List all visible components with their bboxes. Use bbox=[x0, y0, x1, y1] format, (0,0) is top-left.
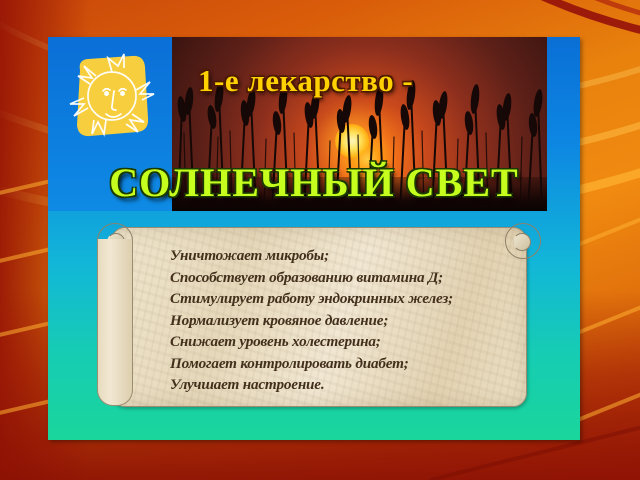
parchment-scroll: Уничтожает микробы; Способствует образов… bbox=[95, 221, 541, 411]
scroll-roll-right bbox=[505, 223, 541, 259]
parchment-surface: Уничтожает микробы; Способствует образов… bbox=[111, 227, 527, 407]
list-item: Стимулирует работу эндокринных желез; bbox=[170, 288, 540, 310]
scroll-curl-right bbox=[513, 233, 531, 251]
benefits-list: Уничтожает микробы; Способствует образов… bbox=[170, 245, 540, 396]
scroll-edge-left bbox=[97, 239, 133, 406]
list-item: Нормализует кровяное давление; bbox=[170, 310, 540, 332]
list-item: Способствует образованию витамина Д; bbox=[170, 267, 540, 289]
list-item: Улучшает настроение. bbox=[170, 374, 540, 396]
slide-panel: 1-е лекарство - СОЛНЕЧНЫЙ СВЕТ Уничтожае… bbox=[48, 37, 580, 440]
list-item: Снижает уровень холестерина; bbox=[170, 331, 540, 353]
slide-subtitle: 1-е лекарство - bbox=[198, 63, 528, 99]
sun-with-face-icon bbox=[58, 46, 162, 150]
presentation-slide-screenshot: 1-е лекарство - СОЛНЕЧНЫЙ СВЕТ Уничтожае… bbox=[0, 0, 640, 480]
list-item: Уничтожает микробы; bbox=[170, 245, 540, 267]
list-item: Помогает контролировать диабет; bbox=[170, 353, 540, 375]
slide-title: СОЛНЕЧНЫЙ СВЕТ bbox=[48, 159, 580, 206]
